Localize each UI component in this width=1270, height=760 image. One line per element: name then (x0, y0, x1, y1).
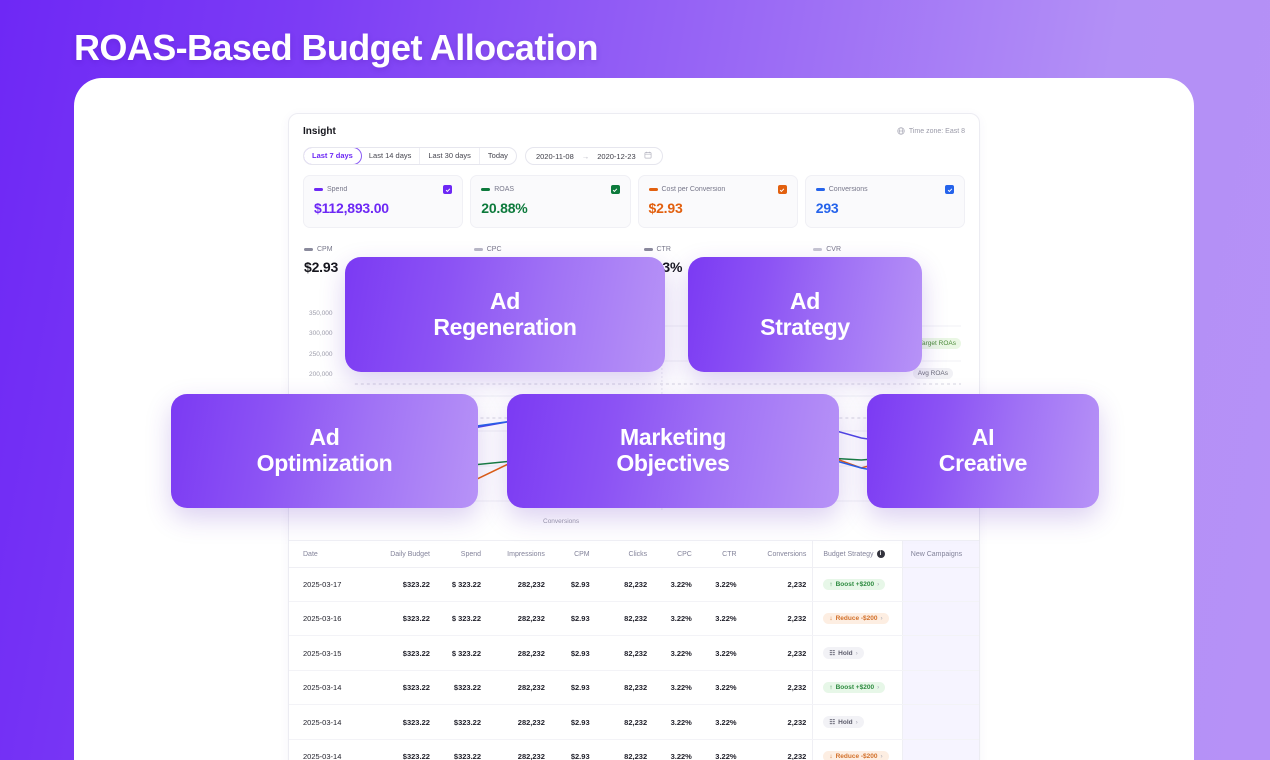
chevron-right-icon: › (881, 615, 883, 622)
hold-icon: ☷ (829, 718, 835, 726)
cell-cpc: 3.22% (653, 671, 698, 705)
cell-conversions: 2,232 (743, 740, 813, 760)
reduce-icon: ↓ (829, 615, 832, 622)
budget-strategy-label: Reduce -$200 (836, 753, 878, 760)
metric-card-cost-per-conversion[interactable]: Cost per Conversion $2.93 (638, 175, 798, 228)
series-color-swatch (644, 248, 653, 251)
cell-new-campaigns (902, 705, 979, 740)
cell-budget-strategy: ☷Hold› (813, 636, 902, 671)
cell-clicks: 82,232 (596, 636, 654, 671)
preset-today[interactable]: Today (480, 148, 516, 164)
cell-clicks: 82,232 (596, 740, 654, 760)
cell-cpm: $2.93 (551, 568, 596, 602)
table-body: 2025-03-17$323.22$ 323.22282,232$2.9382,… (289, 568, 979, 760)
overlay-card-ad-strategy[interactable]: Ad Strategy (688, 257, 922, 372)
cell-new-campaigns (902, 671, 979, 705)
cell-date: 2025-03-14 (289, 740, 372, 760)
col-spend[interactable]: Spend (436, 541, 487, 568)
budget-strategy-chip[interactable]: ↓Reduce -$200› (823, 613, 888, 624)
budget-strategy-label: Reduce -$200 (836, 615, 878, 622)
overlay-line-2: Objectives (616, 451, 729, 477)
cell-daily-budget: $323.22 (372, 740, 436, 760)
budget-strategy-chip[interactable]: ☷Hold› (823, 647, 863, 659)
cell-date: 2025-03-14 (289, 705, 372, 740)
cell-impressions: 282,232 (487, 602, 551, 636)
series-color-swatch (649, 188, 658, 191)
metric-label: CPC (487, 246, 502, 253)
budget-strategy-chip[interactable]: ☷Hold› (823, 716, 863, 728)
budget-strategy-label: Hold (838, 650, 852, 657)
preset-last-7-days[interactable]: Last 7 days (303, 147, 362, 165)
col-cpc[interactable]: CPC (653, 541, 698, 568)
cell-date: 2025-03-14 (289, 671, 372, 705)
cell-clicks: 82,232 (596, 568, 654, 602)
col-budget-strategy[interactable]: Budget Strategyi (813, 541, 902, 568)
cell-cpm: $2.93 (551, 740, 596, 760)
metric-value: $2.93 (649, 200, 787, 216)
table-header-row: Date Daily Budget Spend Impressions CPM … (289, 541, 979, 568)
cell-cpm: $2.93 (551, 671, 596, 705)
dashboard-title: Insight (303, 126, 336, 137)
cell-ctr: 3.22% (698, 602, 743, 636)
cell-daily-budget: $323.22 (372, 671, 436, 705)
avg-roas-badge: Avg ROAs (913, 368, 953, 379)
y-tick-200000: 200,000 (309, 371, 333, 378)
overlay-card-ai-creative[interactable]: AI Creative (867, 394, 1099, 508)
cell-new-campaigns (902, 636, 979, 671)
col-ctr[interactable]: CTR (698, 541, 743, 568)
cell-date: 2025-03-16 (289, 602, 372, 636)
metric-card-conversions[interactable]: Conversions 293 (805, 175, 965, 228)
overlay-line-2: Strategy (760, 315, 850, 341)
col-conversions[interactable]: Conversions (743, 541, 813, 568)
cell-date: 2025-03-15 (289, 636, 372, 671)
overlay-card-ad-optimization[interactable]: Ad Optimization (171, 394, 478, 508)
series-color-swatch (474, 248, 483, 251)
metric-label: CTR (657, 246, 671, 253)
cell-cpc: 3.22% (653, 602, 698, 636)
cell-impressions: 282,232 (487, 636, 551, 671)
col-new-campaigns[interactable]: New Campaigns (902, 541, 979, 568)
metric-checkbox[interactable] (611, 185, 620, 194)
cell-budget-strategy: ↓Reduce -$200› (813, 602, 902, 636)
budget-strategy-chip[interactable]: ↓Reduce -$200› (823, 751, 888, 760)
cell-impressions: 282,232 (487, 671, 551, 705)
filter-bar: Last 7 days Last 14 days Last 30 days To… (289, 141, 979, 165)
col-cpm[interactable]: CPM (551, 541, 596, 568)
calendar-icon[interactable] (644, 151, 652, 161)
chevron-right-icon: › (877, 684, 879, 691)
budget-strategy-chip[interactable]: ↑Boost +$200› (823, 682, 885, 693)
metric-label: CVR (826, 246, 841, 253)
date-range-end: 2020-12-23 (597, 152, 635, 161)
metric-card-roas[interactable]: ROAS 20.88% (470, 175, 630, 228)
chevron-right-icon: › (877, 581, 879, 588)
cell-budget-strategy: ☷Hold› (813, 705, 902, 740)
cell-budget-strategy: ↓Reduce -$200› (813, 740, 902, 760)
date-range-separator: → (582, 152, 590, 161)
metric-checkbox[interactable] (778, 185, 787, 194)
cell-ctr: 3.22% (698, 671, 743, 705)
overlay-line-1: AI (939, 425, 1027, 451)
metric-label: Cost per Conversion (662, 186, 726, 193)
cell-daily-budget: $323.22 (372, 636, 436, 671)
info-icon[interactable]: i (877, 550, 885, 558)
table-row[interactable]: 2025-03-15$323.22$ 323.22282,232$2.9382,… (289, 636, 979, 671)
cell-conversions: 2,232 (743, 671, 813, 705)
overlay-card-ad-regeneration[interactable]: Ad Regeneration (345, 257, 665, 372)
date-range-start: 2020-11-08 (536, 152, 574, 161)
cell-cpm: $2.93 (551, 602, 596, 636)
dashboard-header: Insight Time zone: East 8 (289, 114, 979, 141)
cell-date: 2025-03-17 (289, 568, 372, 602)
series-color-swatch (816, 188, 825, 191)
reduce-icon: ↓ (829, 753, 832, 760)
chevron-right-icon: › (856, 650, 858, 657)
range-preset-group: Last 7 days Last 14 days Last 30 days To… (303, 147, 517, 165)
table-row[interactable]: 2025-03-14$323.22$323.22282,232$2.9382,2… (289, 705, 979, 740)
overlay-line-1: Ad (257, 425, 393, 451)
cell-ctr: 3.22% (698, 740, 743, 760)
overlay-line-2: Creative (939, 451, 1027, 477)
cell-new-campaigns (902, 568, 979, 602)
metric-cards-row-1: Spend $112,893.00 ROAS (289, 165, 979, 228)
cell-spend: $323.22 (436, 705, 487, 740)
boost-icon: ↑ (829, 684, 832, 691)
y-tick-350000: 350,000 (309, 310, 333, 317)
table-head: Date Daily Budget Spend Impressions CPM … (289, 541, 979, 568)
cell-spend: $ 323.22 (436, 602, 487, 636)
chart-axis-caption: Conversions (543, 518, 579, 525)
cell-cpc: 3.22% (653, 568, 698, 602)
cell-conversions: 2,232 (743, 568, 813, 602)
metric-checkbox[interactable] (945, 185, 954, 194)
cell-cpm: $2.93 (551, 636, 596, 671)
chevron-right-icon: › (856, 719, 858, 726)
metric-label: CPM (317, 246, 333, 253)
cell-cpc: 3.22% (653, 705, 698, 740)
cell-cpc: 3.22% (653, 740, 698, 760)
col-budget-strategy-label: Budget Strategy (823, 551, 873, 558)
series-color-swatch (314, 188, 323, 191)
metric-checkbox[interactable] (443, 185, 452, 194)
cell-cpc: 3.22% (653, 636, 698, 671)
budget-strategy-chip[interactable]: ↑Boost +$200› (823, 579, 885, 590)
timezone-label: Time zone: East 8 (909, 128, 965, 135)
cell-conversions: 2,232 (743, 636, 813, 671)
cell-ctr: 3.22% (698, 568, 743, 602)
metric-value: 20.88% (481, 200, 619, 216)
cell-clicks: 82,232 (596, 671, 654, 705)
cell-impressions: 282,232 (487, 740, 551, 760)
cell-conversions: 2,232 (743, 705, 813, 740)
cell-ctr: 3.22% (698, 636, 743, 671)
cell-clicks: 82,232 (596, 602, 654, 636)
budget-strategy-label: Boost +$200 (836, 684, 874, 691)
series-color-swatch (813, 248, 822, 251)
cell-new-campaigns (902, 740, 979, 760)
date-range-picker[interactable]: 2020-11-08 → 2020-12-23 (525, 147, 663, 165)
budget-strategy-label: Boost +$200 (836, 581, 874, 588)
series-color-swatch (304, 248, 313, 251)
overlay-line-2: Optimization (257, 451, 393, 477)
metric-value: 293 (816, 200, 954, 216)
cell-budget-strategy: ↑Boost +$200› (813, 568, 902, 602)
performance-table: Date Daily Budget Spend Impressions CPM … (289, 540, 979, 760)
cell-spend: $323.22 (436, 740, 487, 760)
y-tick-300000: 300,000 (309, 330, 333, 337)
cell-budget-strategy: ↑Boost +$200› (813, 671, 902, 705)
table-row[interactable]: 2025-03-16$323.22$ 323.22282,232$2.9382,… (289, 602, 979, 636)
table-row[interactable]: 2025-03-14$323.22$323.22282,232$2.9382,2… (289, 740, 979, 760)
cell-new-campaigns (902, 602, 979, 636)
cell-cpm: $2.93 (551, 705, 596, 740)
timezone-indicator: Time zone: East 8 (897, 127, 965, 137)
globe-icon (897, 127, 905, 137)
cell-daily-budget: $323.22 (372, 568, 436, 602)
overlay-line-1: Marketing (616, 425, 729, 451)
cell-impressions: 282,232 (487, 568, 551, 602)
cell-impressions: 282,232 (487, 705, 551, 740)
cell-daily-budget: $323.22 (372, 705, 436, 740)
series-color-swatch (481, 188, 490, 191)
preset-last-14-days[interactable]: Last 14 days (361, 148, 421, 164)
metric-value: $112,893.00 (314, 200, 452, 216)
budget-strategy-label: Hold (838, 719, 852, 726)
cell-daily-budget: $323.22 (372, 602, 436, 636)
table-row[interactable]: 2025-03-17$323.22$ 323.22282,232$2.9382,… (289, 568, 979, 602)
cell-spend: $323.22 (436, 671, 487, 705)
col-clicks[interactable]: Clicks (596, 541, 654, 568)
overlay-line-1: Ad (760, 289, 850, 315)
metric-label: ROAS (494, 186, 514, 193)
y-tick-250000: 250,000 (309, 351, 333, 358)
metric-card-spend[interactable]: Spend $112,893.00 (303, 175, 463, 228)
col-daily-budget[interactable]: Daily Budget (372, 541, 436, 568)
cell-spend: $ 323.22 (436, 568, 487, 602)
overlay-card-marketing-objectives[interactable]: Marketing Objectives (507, 394, 839, 508)
hold-icon: ☷ (829, 649, 835, 657)
boost-icon: ↑ (829, 581, 832, 588)
cell-ctr: 3.22% (698, 705, 743, 740)
metric-label: Spend (327, 186, 347, 193)
overlay-line-1: Ad (433, 289, 576, 315)
cell-clicks: 82,232 (596, 705, 654, 740)
cell-conversions: 2,232 (743, 602, 813, 636)
col-date[interactable]: Date (289, 541, 372, 568)
col-impressions[interactable]: Impressions (487, 541, 551, 568)
page-title: ROAS-Based Budget Allocation (74, 27, 598, 69)
overlay-line-2: Regeneration (433, 315, 576, 341)
metric-label: Conversions (829, 186, 868, 193)
chevron-right-icon: › (881, 753, 883, 760)
table-row[interactable]: 2025-03-14$323.22$323.22282,232$2.9382,2… (289, 671, 979, 705)
preset-last-30-days[interactable]: Last 30 days (420, 148, 480, 164)
cell-spend: $ 323.22 (436, 636, 487, 671)
